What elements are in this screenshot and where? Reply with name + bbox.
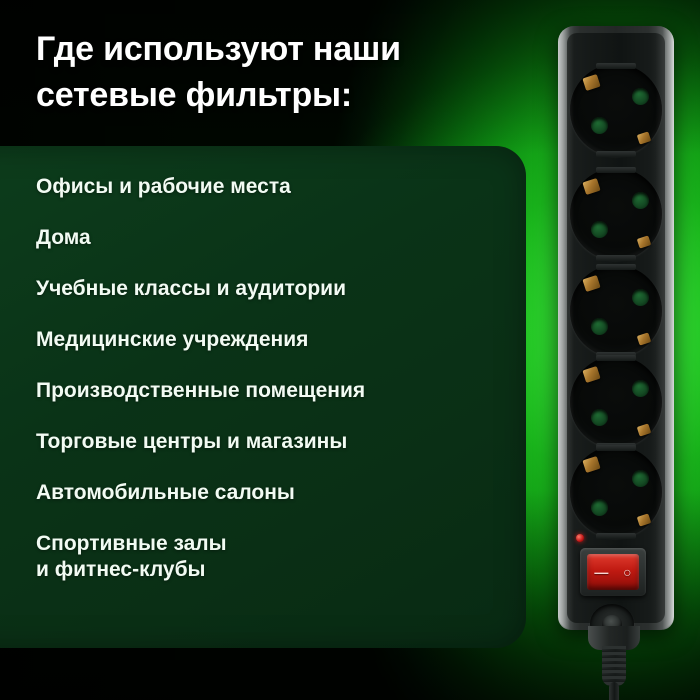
cord-strain-relief — [602, 646, 626, 686]
socket-pin-icon — [591, 318, 608, 335]
list-item: Производственные помещения — [36, 378, 506, 404]
socket-pin-icon — [632, 192, 649, 209]
socket-earth-clip-icon — [582, 366, 600, 383]
product-power-strip: — ○ — [558, 26, 674, 640]
socket-icon — [570, 265, 662, 357]
list-item: Дома — [36, 225, 506, 251]
socket-pin-icon — [632, 88, 649, 105]
power-led-indicator-icon — [576, 534, 584, 542]
socket-pin-icon — [632, 289, 649, 306]
power-cord — [609, 682, 619, 700]
promo-banner: Где используют наши сетевые фильтры: Офи… — [0, 0, 700, 700]
list-item: Автомобильные салоны — [36, 480, 506, 506]
socket-earth-clip-icon — [582, 456, 600, 473]
socket-earth-clip-icon — [582, 74, 600, 91]
list-item: Медицинские учреждения — [36, 327, 506, 353]
socket-icon — [570, 168, 662, 260]
socket-pin-icon — [591, 221, 608, 238]
list-item: Учебные классы и аудитории — [36, 276, 506, 302]
usage-list: Офисы и рабочие места Дома Учебные класс… — [36, 174, 506, 583]
socket-earth-clip-icon — [582, 178, 600, 195]
switch-off-mark-icon: ○ — [623, 565, 631, 579]
socket-icon — [570, 64, 662, 156]
socket-pin-icon — [591, 117, 608, 134]
list-item: Торговые центры и магазины — [36, 429, 506, 455]
socket-pin-icon — [632, 470, 649, 487]
socket-pin-icon — [591, 499, 608, 516]
list-item: Спортивные залы и фитнес-клубы — [36, 531, 506, 583]
socket-pin-icon — [632, 380, 649, 397]
socket-icon — [570, 446, 662, 538]
power-switch[interactable]: — ○ — [580, 548, 646, 596]
power-switch-rocker[interactable]: — ○ — [587, 554, 639, 590]
switch-on-mark-icon: — — [594, 565, 608, 579]
page-title: Где используют наши сетевые фильтры: — [36, 27, 536, 119]
socket-pin-icon — [591, 409, 608, 426]
list-item: Офисы и рабочие места — [36, 174, 506, 200]
socket-icon — [570, 356, 662, 448]
socket-earth-clip-icon — [582, 275, 600, 292]
